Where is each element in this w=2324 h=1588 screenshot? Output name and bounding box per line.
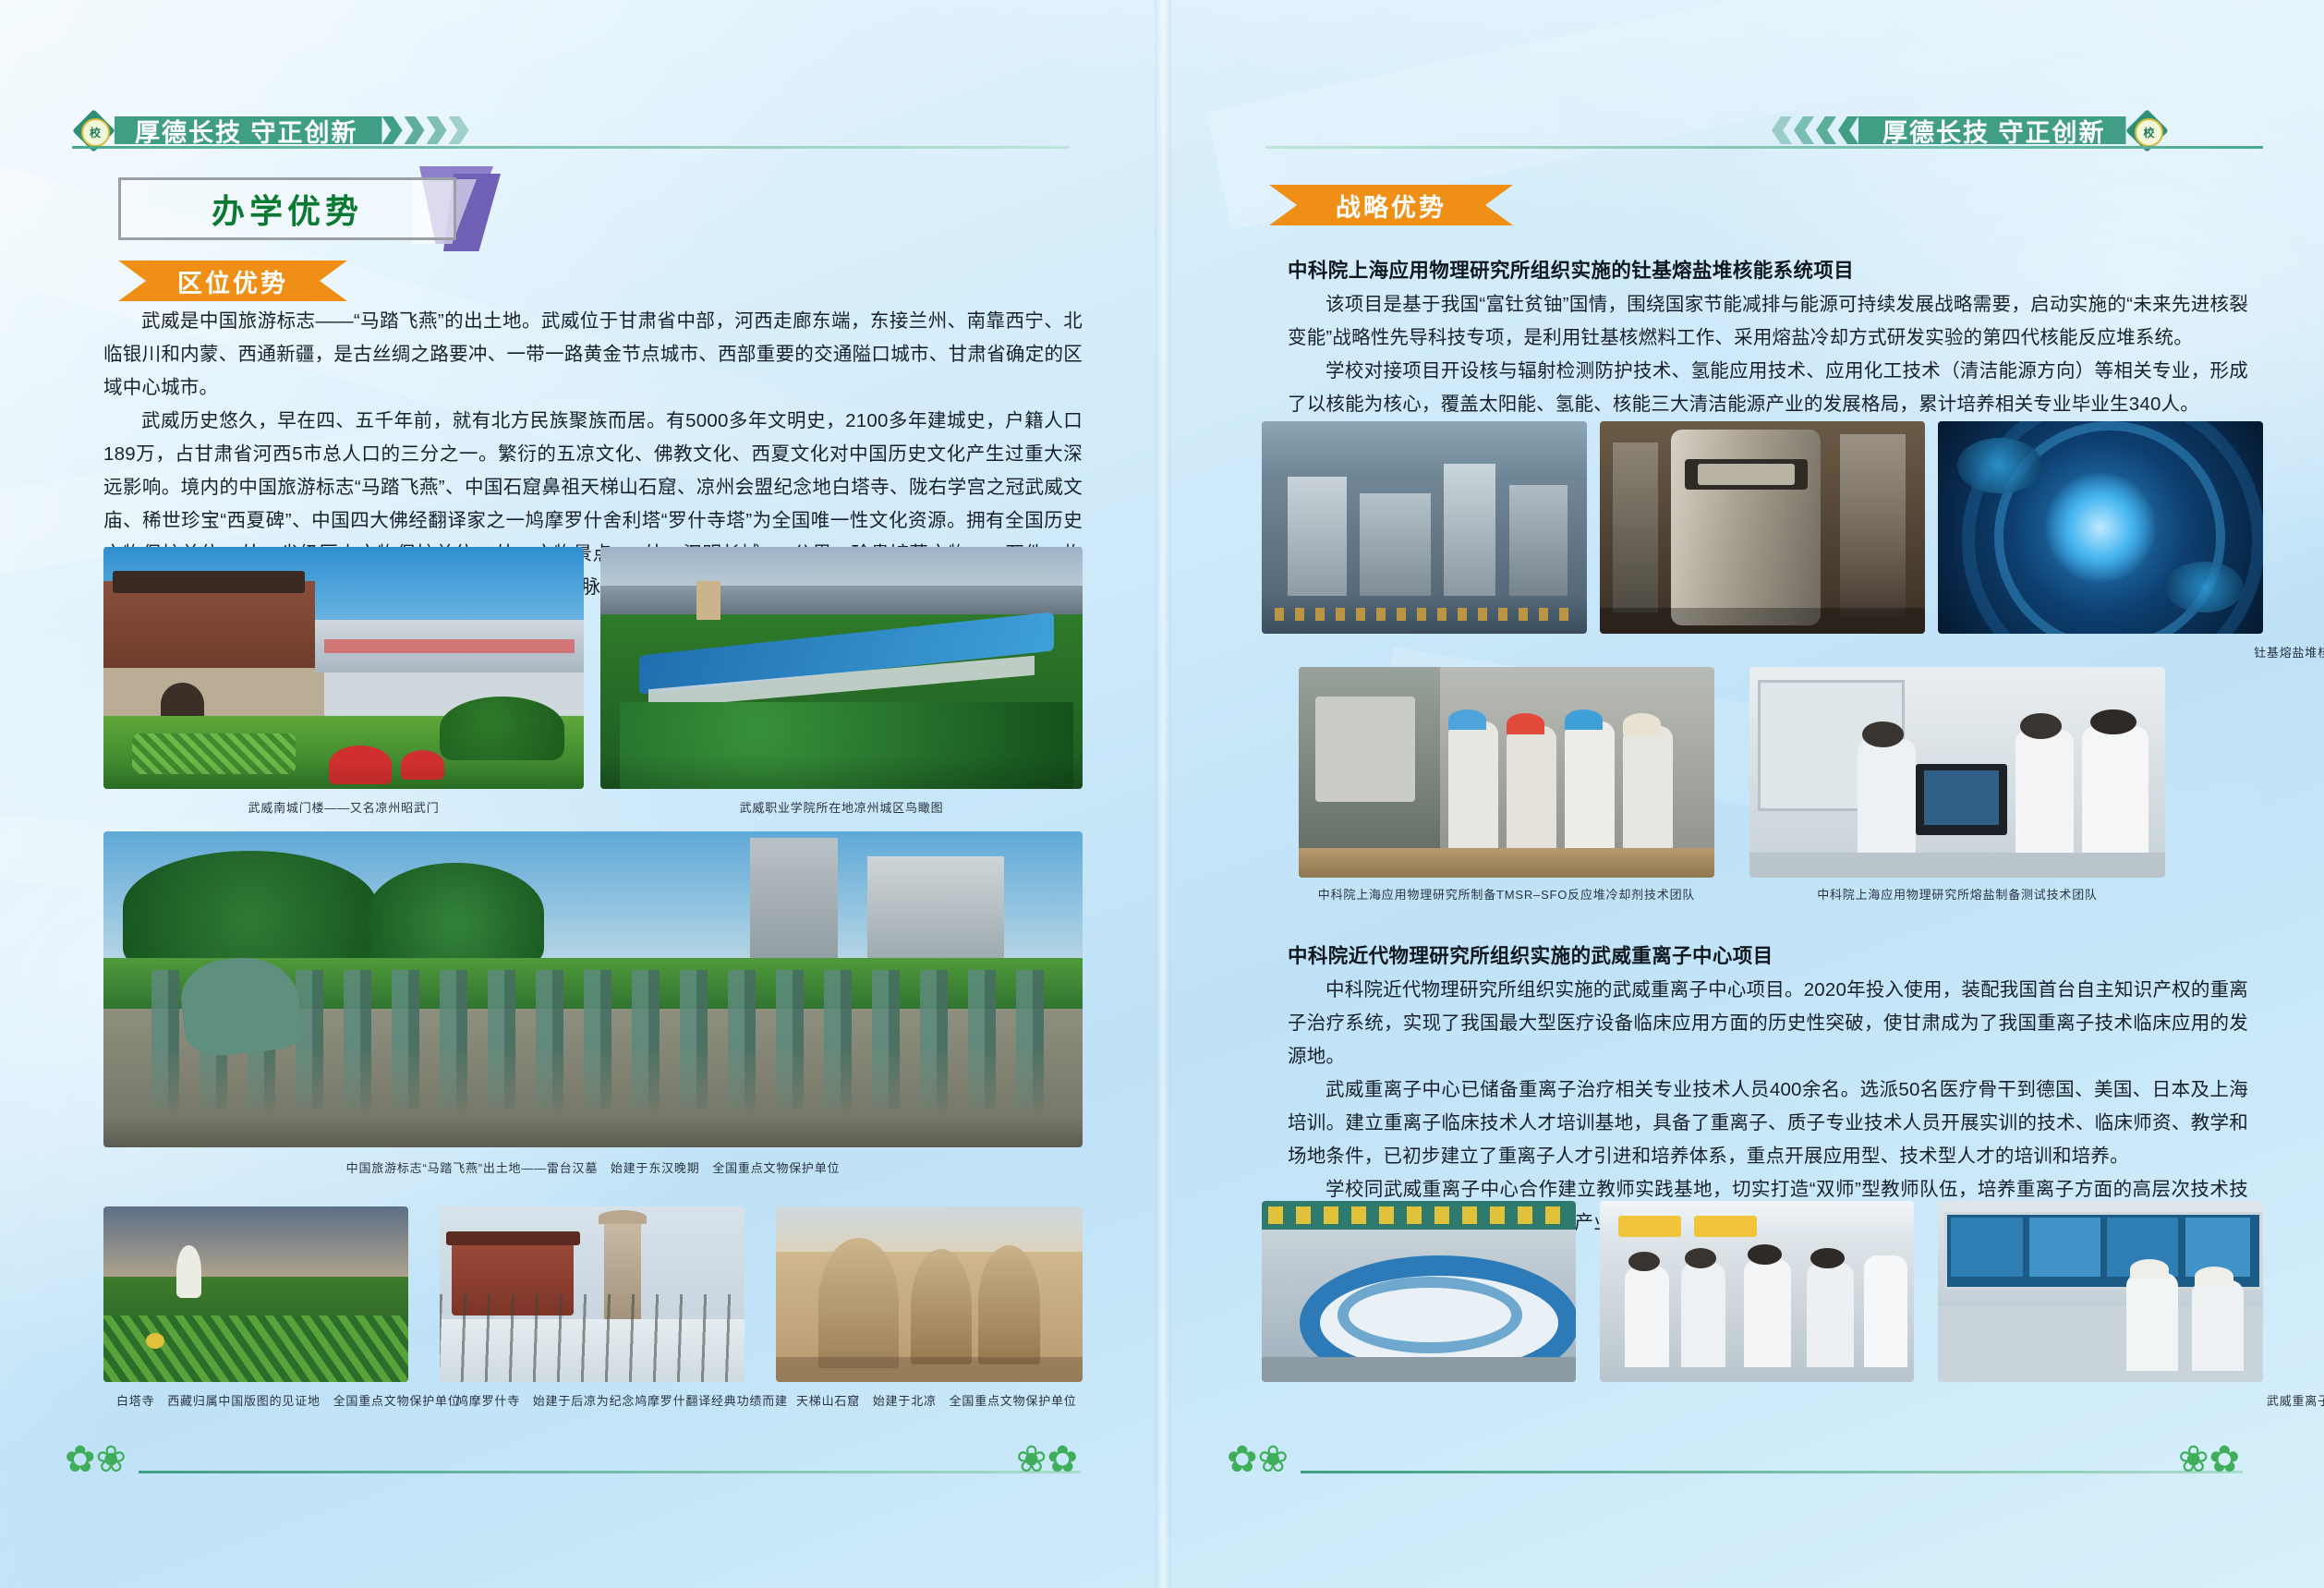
photo-ion-control-room — [1938, 1201, 2263, 1382]
chevron-left-icon-group — [1772, 116, 1858, 144]
ribbon-label-right: 战略优势 — [1336, 188, 1446, 224]
ornament-left-flourish-2: ❀✿ — [1016, 1441, 1078, 1478]
right-b2-paragraph-2: 武威重离子中心已储备重离子治疗相关专业技术人员400余名。选派50名医疗骨干到德… — [1288, 1073, 2248, 1173]
photo-liangzhou-aerial — [600, 547, 1083, 789]
caption-kumarajiva: 鸠摩罗什寺 始建于后凉为纪念鸠摩罗什翻译经典功绩而建 — [456, 1391, 788, 1409]
ornament-rule-right — [1301, 1471, 2243, 1473]
photo-kumarajiva-temple — [440, 1206, 744, 1382]
caption-tmsr-team: 中科院上海应用物理研究所制备TMSR–SFO反应堆冷却剂技术团队 — [1318, 885, 1695, 903]
right-block-2-paragraphs: 中科院近代物理研究所组织实施的武威重离子中心项目。2020年投入使用，装配我国首… — [1288, 974, 2248, 1240]
photo-reactor-core-blue — [1938, 421, 2263, 634]
ornament-rule-left — [139, 1471, 1081, 1473]
caption-baita: 白塔寺 西藏归属中国版图的见证地 全国重点文物保护单位 — [116, 1391, 461, 1409]
left-paragraph-1: 武威是中国旅游标志——“马踏飞燕”的出土地。武威位于甘肃省中部，河西走廊东端，东… — [103, 305, 1083, 405]
right-b1-paragraph-1: 该项目是基于我国“富钍贫铀”国情，围绕国家节能减排与能源可持续发展战略需要，启动… — [1288, 288, 2248, 355]
ornament-right-flourish: ✿❀ — [1227, 1441, 1289, 1478]
right-block-1-paragraphs: 该项目是基于我国“富钍贫铀”国情，围绕国家节能减排与能源可持续发展战略需要，启动… — [1288, 288, 2248, 421]
photo-reactor-plant — [1262, 421, 1587, 634]
caption-leitai: 中国旅游标志“马踏飞燕”出土地——雷台汉墓 始建于东汉晚期 全国重点文物保护单位 — [346, 1158, 841, 1176]
running-head-rule-right — [1265, 146, 2263, 149]
running-head-rule-left — [72, 146, 1070, 149]
ornament-right-flourish-2: ❀✿ — [2178, 1441, 2240, 1478]
section-title-block: 办学优势 — [118, 177, 456, 240]
ribbon-label-left: 区位优势 — [177, 263, 288, 299]
chevron-right-icon-group — [382, 116, 469, 144]
photo-ion-treatment-room — [1600, 1201, 1914, 1382]
photo-tiantishan-grottoes — [776, 1206, 1083, 1382]
photo-salt-vessel — [1600, 421, 1925, 634]
photo-wuwei-south-gate — [103, 547, 584, 789]
brochure-spread: 校 厚德长技 守正创新 办学优势 区位优势 武威是中国旅游标志——“马踏飞燕”的… — [0, 0, 2324, 1588]
caption-tiantishan: 天梯山石窟 始建于北凉 全国重点文物保护单位 — [796, 1391, 1077, 1409]
left-page: 校 厚德长技 守正创新 办学优势 区位优势 武威是中国旅游标志——“马踏飞燕”的… — [0, 0, 1162, 1588]
running-head-text-left: 厚德长技 守正创新 — [115, 116, 382, 144]
photo-baita-temple — [103, 1206, 408, 1382]
ribbon-quwei-youshi: 区位优势 — [118, 261, 347, 301]
caption-aerial: 武威职业学院所在地凉州城区鸟瞰图 — [740, 798, 944, 816]
right-heading-1: 中科院上海应用物理研究所组织实施的钍基熔盐堆核能系统项目 — [1288, 255, 2248, 284]
right-page: 厚德长技 守正创新 校 战略优势 中科院上海应用物理研究所组织实施的钍基熔盐堆核… — [1162, 0, 2324, 1588]
caption-south-gate: 武威南城门楼——又名凉州昭武门 — [248, 798, 439, 816]
ribbon-zhanlue-youshi: 战略优势 — [1269, 185, 1513, 225]
caption-ion-center: 武威重离子中心项目 — [2267, 1391, 2324, 1409]
ornament-left-flourish: ✿❀ — [65, 1441, 127, 1478]
right-heading-2: 中科院近代物理研究所组织实施的武威重离子中心项目 — [1288, 940, 2248, 969]
running-head-text-right: 厚德长技 守正创新 — [1858, 116, 2126, 144]
photo-tmsr-team — [1299, 667, 1714, 878]
right-b2-paragraph-1: 中科院近代物理研究所组织实施的武威重离子中心项目。2020年投入使用，装配我国首… — [1288, 974, 2248, 1073]
section-title-frame: 办学优势 — [118, 177, 456, 240]
right-b1-paragraph-2: 学校对接项目开设核与辐射检测防护技术、氢能应用技术、应用化工技术（清洁能源方向）… — [1288, 355, 2248, 421]
photo-leitai-han-tomb — [103, 831, 1083, 1147]
caption-test-team: 中科院上海应用物理研究所熔盐制备测试技术团队 — [1817, 885, 2098, 903]
photo-molten-salt-test-team — [1749, 667, 2165, 878]
photo-ion-accelerator — [1262, 1201, 1576, 1382]
caption-reactor-core: 钍基熔盐堆核能系统项目 — [2254, 643, 2324, 661]
section-title-text: 办学优势 — [212, 185, 363, 233]
